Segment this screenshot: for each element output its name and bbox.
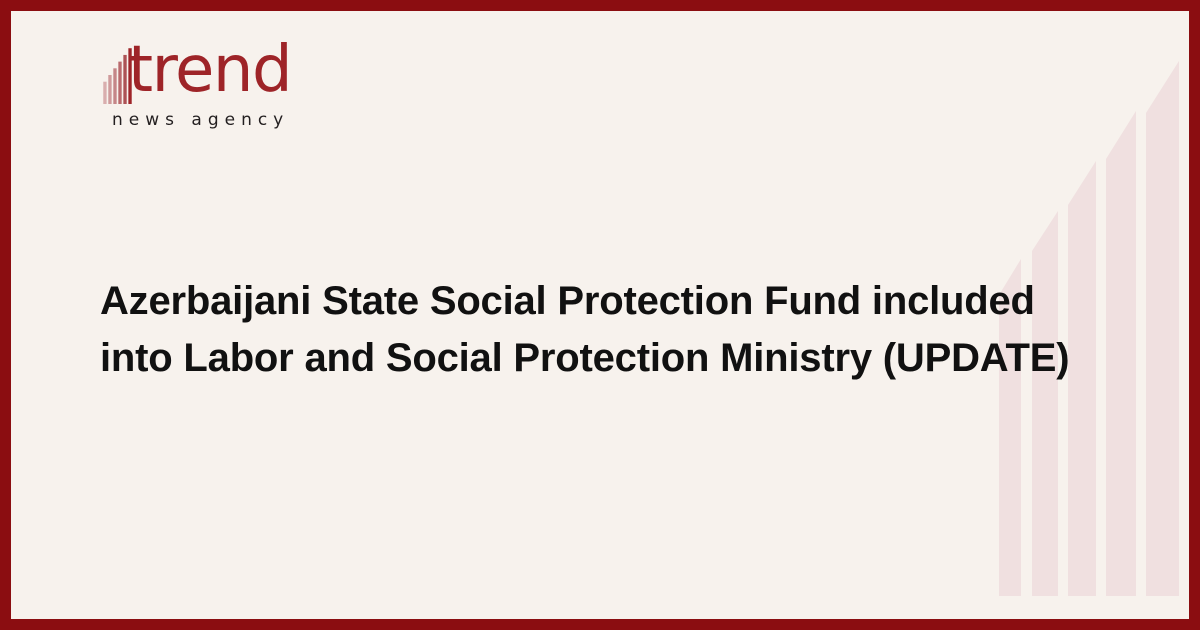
logo-bar-3 [113,68,116,104]
trend-logo[interactable]: trend news agency [100,46,350,146]
share-card: trend news agency Azerbaijani State Soci… [0,0,1200,630]
logo-bar-2 [108,75,111,104]
watermark-bar-2 [1032,211,1058,596]
logo-bar-4 [118,62,121,104]
card-canvas: trend news agency Azerbaijani State Soci… [11,11,1189,619]
watermark-bar-5 [1146,61,1179,596]
logo-tagline: news agency [112,112,289,129]
logo-bar-1 [103,82,106,104]
logo-wordmark: trend [128,38,291,102]
article-headline: Azerbaijani State Social Protection Fund… [100,273,1090,387]
watermark-bar-4 [1106,111,1136,596]
logo-bar-5 [123,55,126,104]
